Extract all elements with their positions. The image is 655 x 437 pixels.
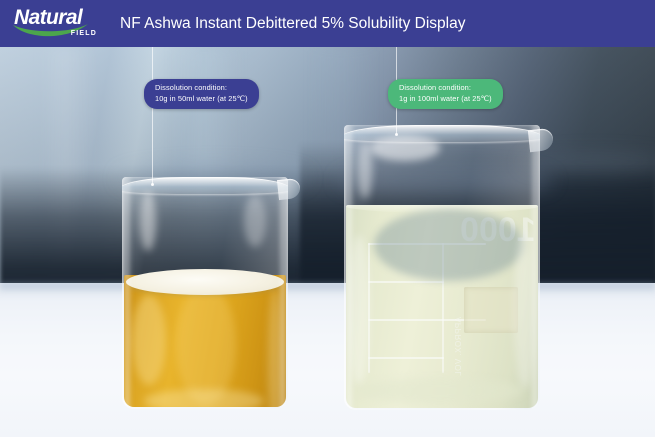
glass-wall-reflection xyxy=(140,191,156,251)
glass-wall-reflection xyxy=(358,141,372,199)
brand-subtitle: FIELD xyxy=(71,30,97,37)
right-beaker: APPROX. VOL 1000 xyxy=(344,125,540,410)
right-beaker-liquid: APPROX. VOL 1000 xyxy=(346,205,538,408)
liquid-highlight xyxy=(132,295,166,385)
label-sticker xyxy=(464,287,518,333)
left-callout-leader-dot xyxy=(151,183,154,186)
glass-right-edge xyxy=(530,125,540,410)
liquid-bottom-glow xyxy=(144,389,264,407)
glass-left-edge xyxy=(122,177,132,409)
solubility-display-image: APPROX. VOL 1000 xyxy=(0,0,655,437)
left-beaker-foam xyxy=(126,269,284,295)
glass-inner-reflection xyxy=(244,195,266,247)
graduation-mark xyxy=(368,357,444,359)
glass-top-reflection xyxy=(370,135,440,161)
right-callout: Dissolution condition: 1g in 100ml water… xyxy=(388,79,503,109)
left-callout-leader-line xyxy=(152,47,153,185)
right-beaker-rim xyxy=(344,125,540,142)
liquid-dark-reflection xyxy=(374,209,524,281)
right-callout-leader-dot xyxy=(395,133,398,136)
page-title: NF Ashwa Instant Debittered 5% Solubilit… xyxy=(120,15,465,33)
graduation-mark xyxy=(368,281,444,283)
left-callout-line1: Dissolution condition: xyxy=(155,83,248,94)
graduation-label: APPROX. VOL xyxy=(454,317,463,376)
table-surface xyxy=(0,283,655,437)
right-callout-line1: Dissolution condition: xyxy=(399,83,492,94)
header-bar: Natural FIELD NF Ashwa Instant Debittere… xyxy=(0,0,655,47)
left-beaker-glass xyxy=(122,177,288,409)
liquid-highlight-2 xyxy=(176,285,236,405)
left-callout: Dissolution condition: 10g in 50ml water… xyxy=(144,79,259,109)
right-beaker-glass: APPROX. VOL 1000 xyxy=(344,125,540,410)
glass-right-edge xyxy=(278,177,288,409)
photo-scene: APPROX. VOL 1000 xyxy=(0,47,655,437)
left-callout-line2: 10g in 50ml water (at 25℃) xyxy=(155,94,248,105)
left-beaker xyxy=(122,177,288,409)
glass-left-edge xyxy=(344,125,354,410)
right-callout-line2: 1g in 100ml water (at 25℃) xyxy=(399,94,492,105)
brand-logo: Natural FIELD xyxy=(14,6,98,42)
liquid-base-band xyxy=(356,378,524,404)
